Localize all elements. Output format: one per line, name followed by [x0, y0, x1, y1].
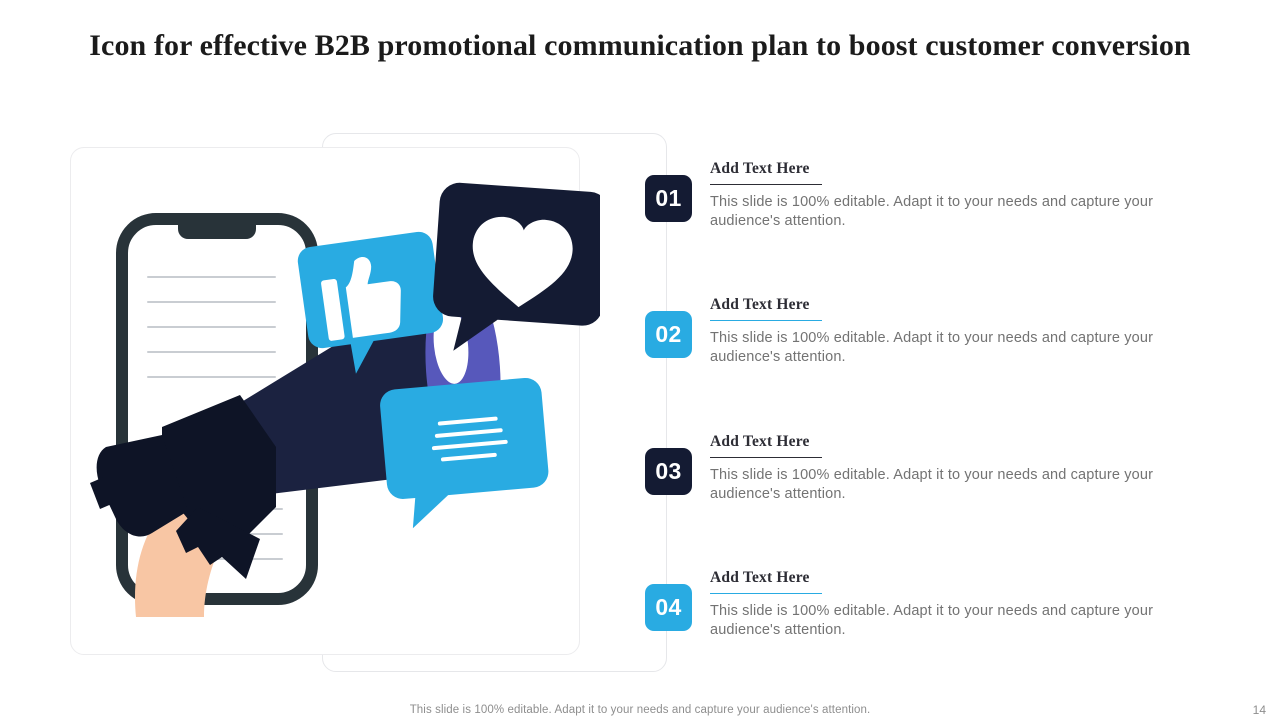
footer-note: This slide is 100% editable. Adapt it to…: [0, 704, 1280, 716]
step-rule-02: [710, 320, 822, 321]
message-bubble-shape: [379, 377, 553, 531]
page-title: Icon for effective B2B promotional commu…: [0, 26, 1280, 66]
step-heading-02: Add Text Here: [710, 296, 1255, 318]
megaphone-social-illustration: [70, 147, 600, 667]
step-rule-03: [710, 457, 822, 458]
list-item[interactable]: 02 Add Text Here This slide is 100% edit…: [645, 296, 1265, 416]
step-text-01: This slide is 100% editable. Adapt it to…: [710, 193, 1155, 230]
step-text-02: This slide is 100% editable. Adapt it to…: [710, 329, 1155, 366]
step-text-04: This slide is 100% editable. Adapt it to…: [710, 602, 1155, 639]
step-heading-03: Add Text Here: [710, 433, 1255, 455]
step-body-01: Add Text Here This slide is 100% editabl…: [710, 160, 1255, 230]
illustration-panel: [0, 120, 700, 690]
step-body-03: Add Text Here This slide is 100% editabl…: [710, 433, 1255, 503]
phone-screen-lines-top: [148, 277, 275, 377]
step-body-04: Add Text Here This slide is 100% editabl…: [710, 569, 1255, 639]
list-item[interactable]: 04 Add Text Here This slide is 100% edit…: [645, 569, 1265, 689]
message-bubble-icon: [379, 377, 553, 531]
step-badge-01: 01: [645, 175, 692, 222]
list-item[interactable]: 03 Add Text Here This slide is 100% edit…: [645, 433, 1265, 553]
page-number: 14: [1253, 703, 1266, 717]
step-body-02: Add Text Here This slide is 100% editabl…: [710, 296, 1255, 366]
phone-notch: [178, 219, 256, 239]
step-badge-04: 04: [645, 584, 692, 631]
list-item[interactable]: 01 Add Text Here This slide is 100% edit…: [645, 160, 1265, 280]
step-rule-04: [710, 593, 822, 594]
step-rule-01: [710, 184, 822, 185]
steps-list: 01 Add Text Here This slide is 100% edit…: [645, 160, 1265, 670]
step-badge-03: 03: [645, 448, 692, 495]
step-heading-04: Add Text Here: [710, 569, 1255, 591]
step-heading-01: Add Text Here: [710, 160, 1255, 182]
step-text-03: This slide is 100% editable. Adapt it to…: [710, 466, 1155, 503]
step-badge-02: 02: [645, 311, 692, 358]
